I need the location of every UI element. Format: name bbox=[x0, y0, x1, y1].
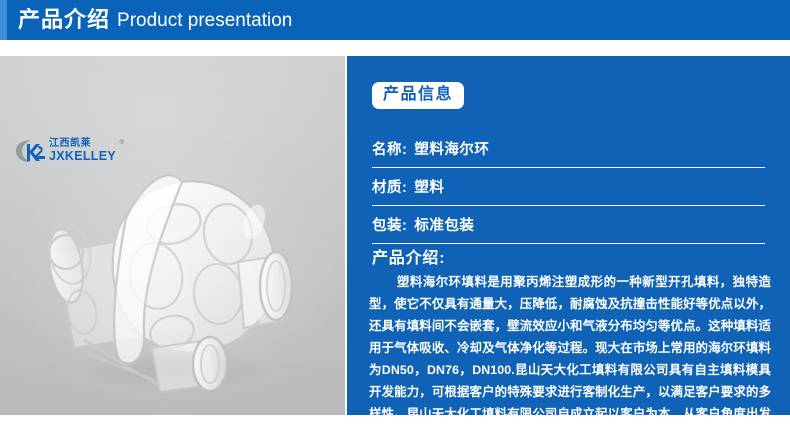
page-title-cn: 产品介绍 bbox=[18, 9, 110, 31]
spec-label-material: 材质: bbox=[372, 176, 407, 197]
spec-value-material: 塑料 bbox=[414, 176, 444, 197]
k2-swoosh-logo-icon bbox=[14, 138, 48, 164]
brand-logo: 江西凯莱 JXKELLEY ® bbox=[14, 138, 116, 164]
spec-value-name: 塑料海尔环 bbox=[414, 138, 489, 159]
product-intro-title: 产品介绍: bbox=[372, 244, 445, 268]
spec-row-packaging: 包装: 标准包装 bbox=[372, 206, 765, 244]
product-intro-body: 塑料海尔环填料是用聚丙烯注塑成形的一种新型开孔填料，独特造型，使它不仅具有通量大… bbox=[369, 271, 771, 415]
brand-name-en: JXKELLEY bbox=[49, 150, 116, 163]
spec-row-name: 名称: 塑料海尔环 bbox=[372, 130, 765, 168]
page-title-en: Product presentation bbox=[117, 11, 292, 30]
spec-row-material: 材质: 塑料 bbox=[372, 168, 765, 206]
product-image bbox=[22, 134, 322, 402]
product-info-panel: 产品信息 名称: 塑料海尔环 材质: 塑料 包装: 标准包装 产品介绍: 塑料海… bbox=[347, 56, 790, 415]
product-photo-panel: 江西凯莱 JXKELLEY ® bbox=[0, 56, 345, 415]
spec-value-packaging: 标准包装 bbox=[414, 214, 474, 235]
spec-label-name: 名称: bbox=[372, 138, 407, 159]
page-title: 产品介绍 Product presentation bbox=[18, 0, 292, 40]
product-presentation-page: 产品介绍 Product presentation bbox=[0, 0, 790, 424]
brand-logo-text: 江西凯莱 JXKELLEY ® bbox=[49, 139, 116, 163]
product-spec-list: 名称: 塑料海尔环 材质: 塑料 包装: 标准包装 bbox=[372, 130, 765, 244]
header-accent-stripe bbox=[0, 0, 7, 40]
registered-mark-icon: ® bbox=[120, 140, 124, 146]
brand-name-cn: 江西凯莱 bbox=[49, 139, 116, 149]
product-info-badge: 产品信息 bbox=[372, 82, 464, 109]
page-header-bar: 产品介绍 Product presentation bbox=[0, 0, 790, 40]
spec-label-packaging: 包装: bbox=[372, 214, 407, 235]
